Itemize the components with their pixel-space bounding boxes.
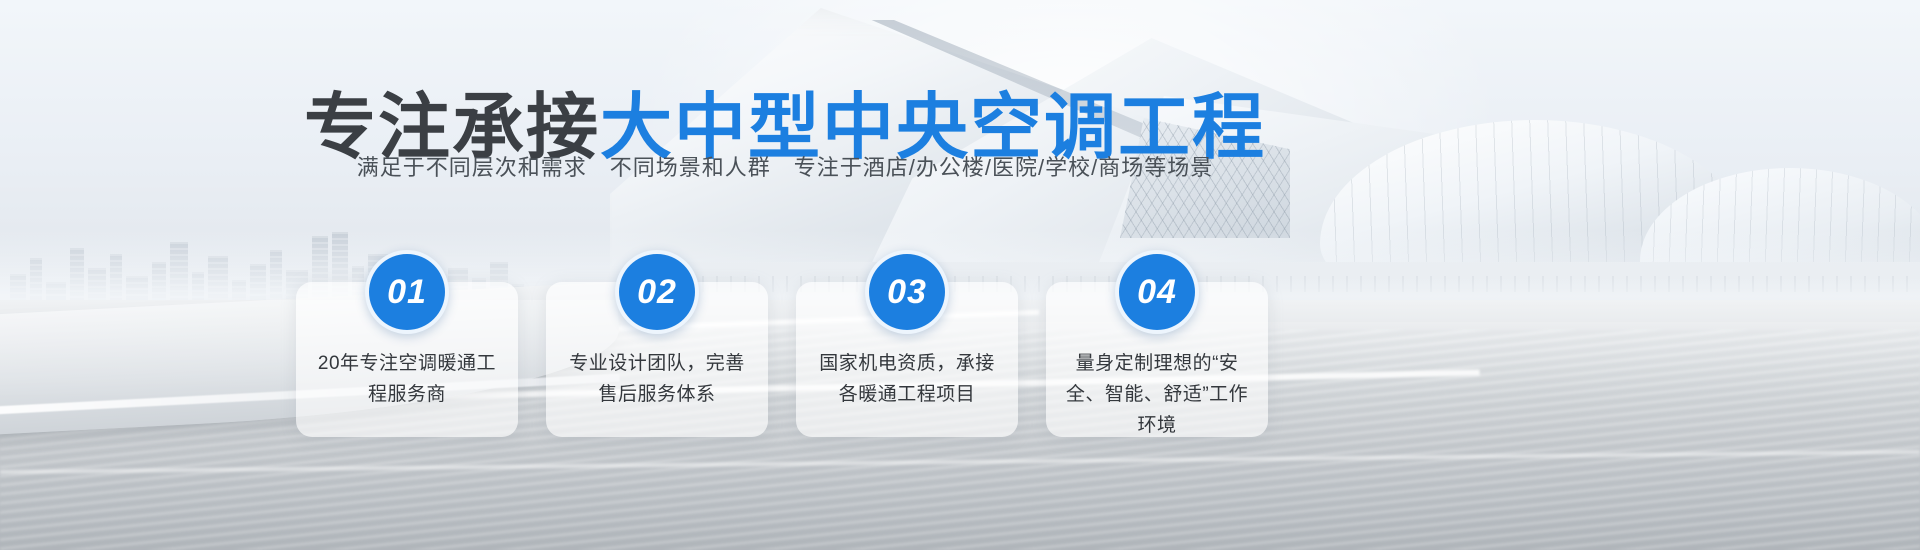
feature-card-list: 01 20年专注空调暖通工程服务商 02 专业设计团队，完善售后服务体系 03 … [296, 252, 1286, 437]
feature-card-text: 专业设计团队，完善售后服务体系 [560, 348, 754, 410]
feature-card-text: 国家机电资质，承接各暖通工程项目 [810, 348, 1004, 410]
step-number-label: 01 [387, 275, 427, 309]
step-number-label: 03 [887, 275, 927, 309]
feature-card-text: 量身定制理想的“安全、智能、舒适”工作环境 [1060, 348, 1254, 441]
step-number-badge: 02 [615, 250, 699, 334]
step-number-label: 04 [1137, 275, 1177, 309]
hero-banner: 专注承接大中型中央空调工程 满足于不同层次和需求 不同场景和人群 专注于酒店/办… [0, 0, 1920, 550]
feature-card[interactable]: 03 国家机电资质，承接各暖通工程项目 [796, 282, 1018, 437]
feature-card-text: 20年专注空调暖通工程服务商 [310, 348, 504, 410]
feature-card[interactable]: 02 专业设计团队，完善售后服务体系 [546, 282, 768, 437]
step-number-label: 02 [637, 275, 677, 309]
step-number-badge: 03 [865, 250, 949, 334]
step-number-badge: 01 [365, 250, 449, 334]
page-subtitle: 满足于不同层次和需求 不同场景和人群 专注于酒店/办公楼/医院/学校/商场等场景 [0, 153, 1570, 183]
step-number-badge: 04 [1115, 250, 1199, 334]
feature-card[interactable]: 01 20年专注空调暖通工程服务商 [296, 282, 518, 437]
feature-card[interactable]: 04 量身定制理想的“安全、智能、舒适”工作环境 [1046, 282, 1268, 437]
